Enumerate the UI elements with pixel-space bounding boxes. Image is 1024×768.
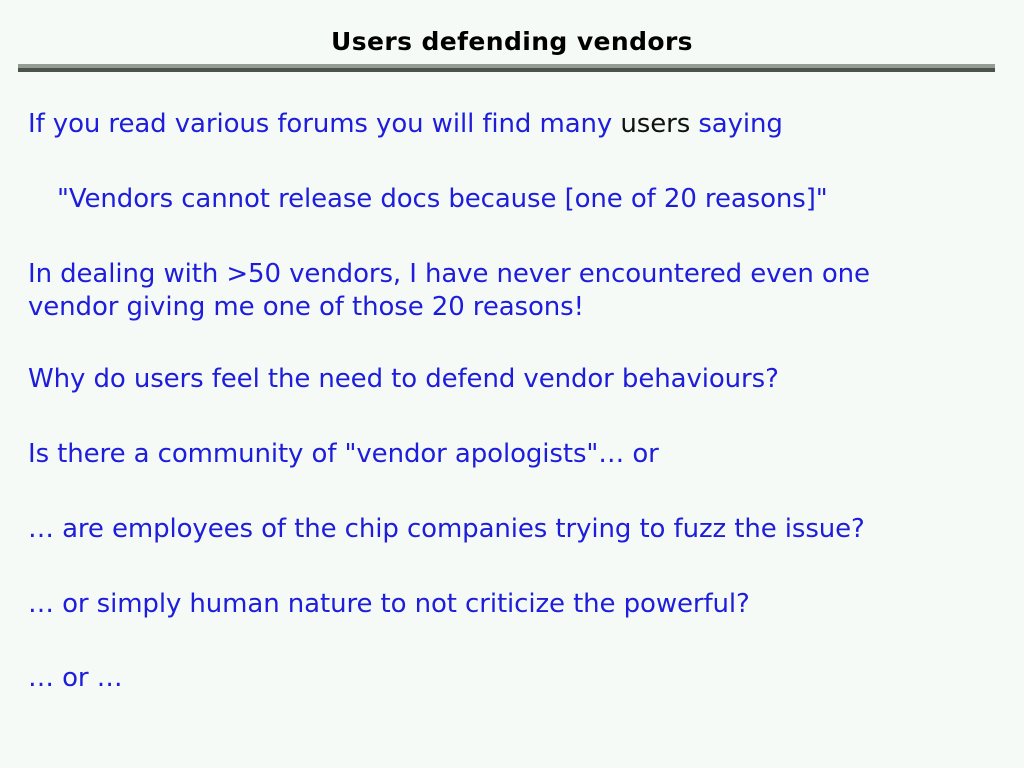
slide-body: If you read various forums you will find… bbox=[28, 108, 994, 696]
body-line-quote: "Vendors cannot release docs because [on… bbox=[57, 183, 994, 217]
body-line-question-human-nature: … or simply human nature to not criticiz… bbox=[28, 588, 994, 622]
body-line-intro: If you read various forums you will find… bbox=[28, 108, 994, 142]
spacer bbox=[28, 397, 994, 438]
spacer bbox=[28, 621, 994, 662]
presentation-slide: Users defending vendors If you read vari… bbox=[0, 0, 1024, 768]
body-line-question-employees: … are employees of the chip companies tr… bbox=[28, 513, 994, 547]
divider-shadow bbox=[18, 68, 995, 72]
page-title: Users defending vendors bbox=[0, 28, 1024, 56]
body-line-intro-part-1: If you read various forums you will find… bbox=[28, 109, 620, 139]
body-line-intro-part-2: saying bbox=[690, 109, 783, 139]
spacer bbox=[28, 217, 994, 258]
spacer bbox=[28, 325, 994, 363]
spacer bbox=[28, 472, 994, 513]
spacer bbox=[28, 142, 994, 183]
body-line-trailing: … or … bbox=[28, 662, 994, 696]
body-line-question-community: Is there a community of "vendor apologis… bbox=[28, 438, 994, 472]
body-line-intro-highlight: users bbox=[620, 109, 690, 139]
body-line-experience: In dealing with >50 vendors, I have neve… bbox=[28, 258, 908, 326]
title-divider bbox=[18, 64, 995, 72]
spacer bbox=[28, 547, 994, 588]
body-line-question-why: Why do users feel the need to defend ven… bbox=[28, 363, 994, 397]
